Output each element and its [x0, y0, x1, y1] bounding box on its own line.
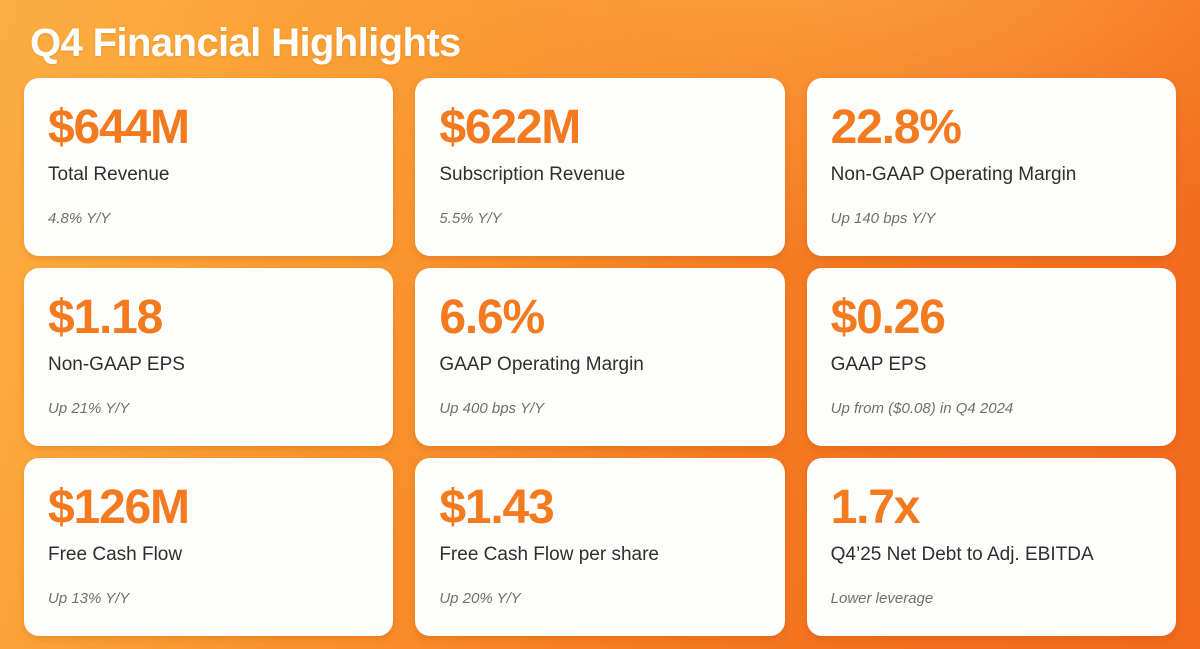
metric-label: Free Cash Flow: [48, 544, 369, 567]
metric-label: Free Cash Flow per share: [439, 544, 760, 567]
metrics-grid: $644M Total Revenue 4.8% Y/Y $622M Subsc…: [24, 78, 1176, 636]
metric-note: 4.8% Y/Y: [48, 210, 369, 228]
metric-note: Up 140 bps Y/Y: [831, 210, 1152, 228]
metric-card-total-revenue: $644M Total Revenue 4.8% Y/Y: [24, 78, 393, 256]
metric-label: Q4’25 Net Debt to Adj. EBITDA: [831, 544, 1152, 567]
metric-note: Up 400 bps Y/Y: [439, 400, 760, 418]
metric-card-subscription-revenue: $622M Subscription Revenue 5.5% Y/Y: [415, 78, 784, 256]
metric-note: Up 20% Y/Y: [439, 590, 760, 608]
metric-card-gaap-eps: $0.26 GAAP EPS Up from ($0.08) in Q4 202…: [807, 268, 1176, 446]
metric-card-net-debt-to-adj-ebitda: 1.7x Q4’25 Net Debt to Adj. EBITDA Lower…: [807, 458, 1176, 636]
metric-card-non-gaap-eps: $1.18 Non-GAAP EPS Up 21% Y/Y: [24, 268, 393, 446]
metric-value: 22.8%: [831, 104, 1152, 152]
metric-value: 6.6%: [439, 294, 760, 342]
metric-value: $1.18: [48, 294, 369, 342]
metric-label: GAAP EPS: [831, 354, 1152, 377]
metric-value: $1.43: [439, 484, 760, 532]
metric-note: 5.5% Y/Y: [439, 210, 760, 228]
metric-value: $126M: [48, 484, 369, 532]
metric-label: Non-GAAP Operating Margin: [831, 164, 1152, 187]
metric-note: Up 13% Y/Y: [48, 590, 369, 608]
metric-value: $0.26: [831, 294, 1152, 342]
metric-value: $644M: [48, 104, 369, 152]
financial-highlights-page: Q4 Financial Highlights $644M Total Reve…: [0, 0, 1200, 649]
metric-note: Up 21% Y/Y: [48, 400, 369, 418]
metric-card-free-cash-flow-per-share: $1.43 Free Cash Flow per share Up 20% Y/…: [415, 458, 784, 636]
metric-note: Up from ($0.08) in Q4 2024: [831, 400, 1152, 418]
metric-card-non-gaap-operating-margin: 22.8% Non-GAAP Operating Margin Up 140 b…: [807, 78, 1176, 256]
metric-label: GAAP Operating Margin: [439, 354, 760, 377]
metric-value: 1.7x: [831, 484, 1152, 532]
metric-value: $622M: [439, 104, 760, 152]
metric-label: Subscription Revenue: [439, 164, 760, 187]
metric-label: Non-GAAP EPS: [48, 354, 369, 377]
metric-card-free-cash-flow: $126M Free Cash Flow Up 13% Y/Y: [24, 458, 393, 636]
metric-label: Total Revenue: [48, 164, 369, 187]
metric-card-gaap-operating-margin: 6.6% GAAP Operating Margin Up 400 bps Y/…: [415, 268, 784, 446]
page-title: Q4 Financial Highlights: [30, 22, 1176, 64]
metric-note: Lower leverage: [831, 590, 1152, 608]
